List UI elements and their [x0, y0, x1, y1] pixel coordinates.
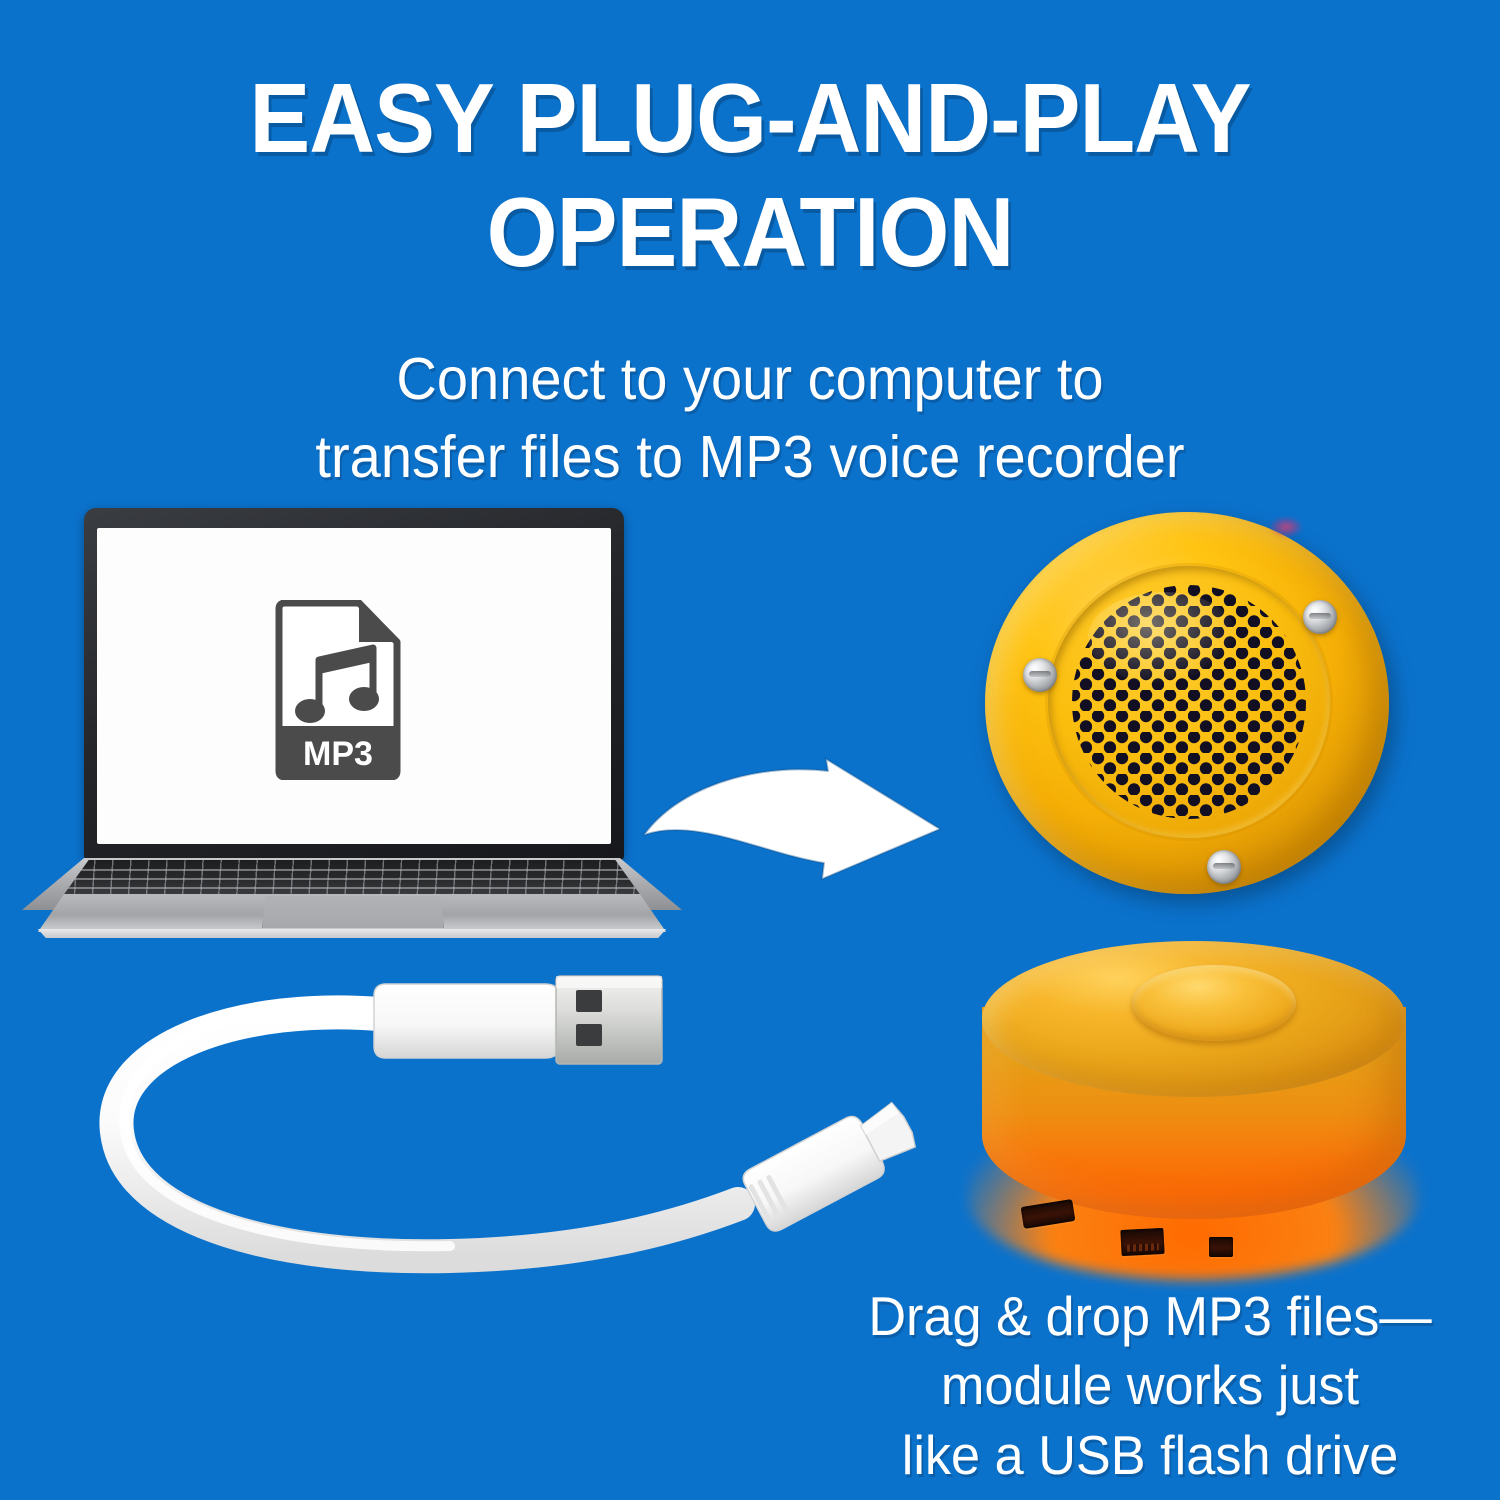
screw-icon	[1207, 850, 1241, 884]
keyboard-key-columns	[22, 860, 682, 894]
speaker-grille	[1068, 585, 1310, 819]
laptop-trackpad	[262, 896, 444, 928]
speaker-inner-recess	[1048, 566, 1330, 838]
switch-opening	[1209, 1237, 1233, 1257]
speaker-module-top-view	[985, 512, 1415, 907]
usb-cable-illustration	[90, 960, 970, 1290]
subtitle-text: Connect to your computer to transfer fil…	[38, 340, 1463, 497]
page-title: EASY PLUG-AND-PLAY OPERATION	[53, 62, 1448, 289]
laptop-keyboard	[22, 860, 682, 894]
micro-usb-port	[1120, 1228, 1164, 1256]
caption-text: Drag & drop MP3 files— module works just…	[818, 1282, 1483, 1490]
curved-right-arrow-icon	[640, 755, 950, 895]
puck-top-surface	[982, 941, 1406, 1097]
keyboard-row	[22, 869, 682, 871]
push-button[interactable]	[1132, 965, 1296, 1041]
mp3-file-icon: MP3	[271, 600, 403, 780]
screw-icon	[1303, 600, 1337, 634]
laptop-front-edge	[22, 929, 682, 938]
screw-icon	[1023, 658, 1057, 692]
puck-module-side-view	[960, 935, 1430, 1280]
led-indicator	[1271, 518, 1301, 536]
speaker-body	[985, 512, 1389, 894]
keyboard-row	[22, 887, 682, 889]
mp3-label: MP3	[303, 735, 373, 773]
product-infographic: EASY PLUG-AND-PLAY OPERATION Connect to …	[0, 0, 1500, 1500]
keyboard-row	[22, 878, 682, 880]
